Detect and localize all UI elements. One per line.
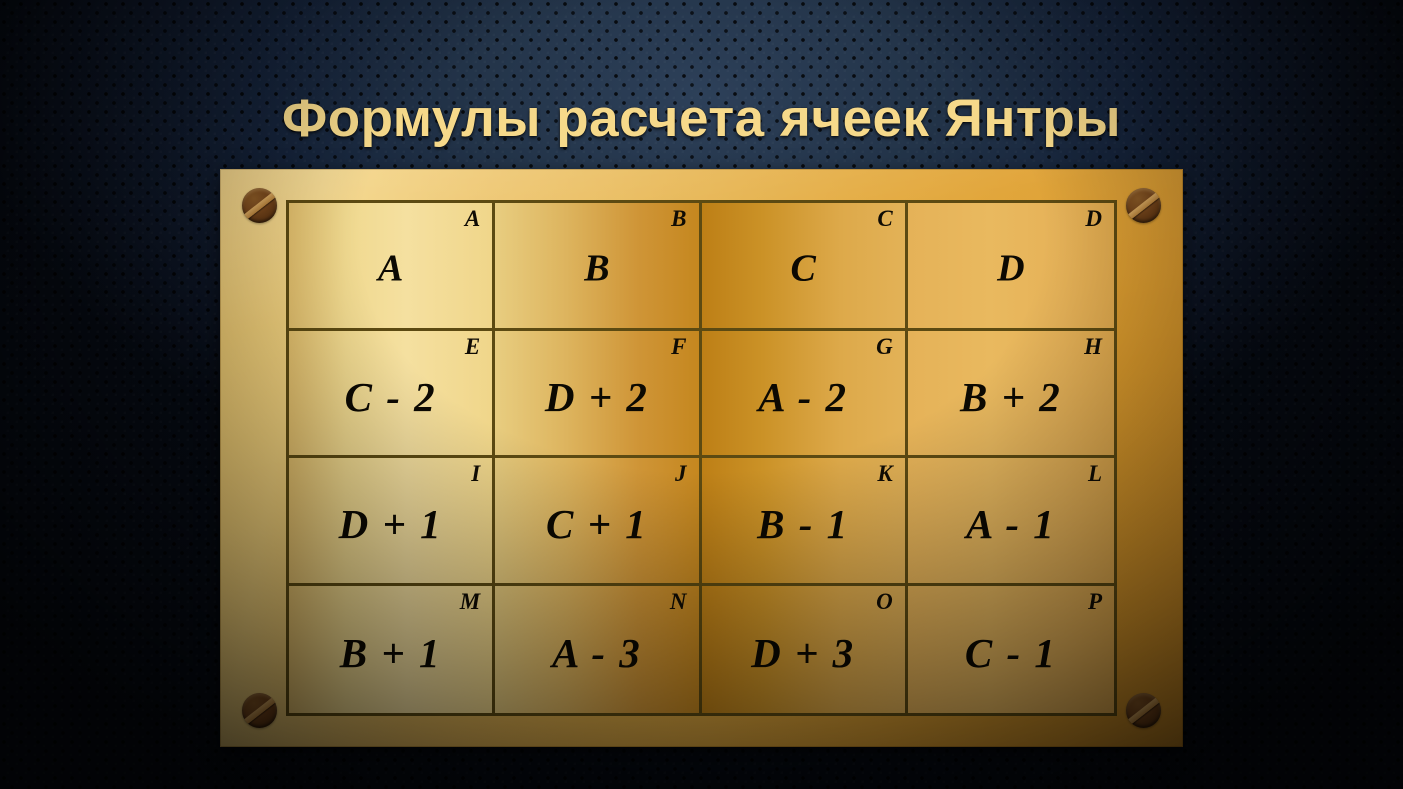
table-cell-j: JC + 1 bbox=[495, 458, 701, 586]
cell-formula: D + 2 bbox=[495, 373, 698, 421]
table-cell-e: EC - 2 bbox=[289, 331, 495, 459]
cell-formula: D + 1 bbox=[289, 500, 492, 548]
cell-formula: A - 1 bbox=[908, 500, 1114, 548]
cell-formula: A bbox=[289, 247, 492, 291]
screw-icon-bottom-left bbox=[242, 693, 277, 728]
screw-icon-top-left bbox=[242, 188, 277, 223]
table-cell-c: CC bbox=[702, 203, 908, 331]
table-cell-l: LA - 1 bbox=[908, 458, 1114, 586]
cell-label: K bbox=[877, 461, 892, 486]
cell-label: E bbox=[465, 334, 480, 359]
cell-label: P bbox=[1088, 589, 1102, 614]
table-cell-p: PC - 1 bbox=[908, 586, 1114, 714]
cell-label: N bbox=[670, 589, 687, 614]
cell-formula: B bbox=[495, 247, 698, 291]
table-cell-a: AA bbox=[289, 203, 495, 331]
slide-canvas: Формулы расчета ячеек Янтры AABBCCDDEC -… bbox=[0, 0, 1403, 789]
cell-label: H bbox=[1084, 334, 1102, 359]
cell-formula: D + 3 bbox=[702, 629, 905, 677]
cell-label: L bbox=[1088, 461, 1102, 486]
cell-label: F bbox=[671, 334, 686, 359]
cell-formula: B - 1 bbox=[702, 500, 905, 548]
table-cell-n: NA - 3 bbox=[495, 586, 701, 714]
cell-label: B bbox=[671, 206, 686, 231]
yantra-formula-table: AABBCCDDEC - 2FD + 2GA - 2HB + 2ID + 1JC… bbox=[286, 200, 1117, 716]
cell-label: A bbox=[465, 206, 480, 231]
table-cell-d: DD bbox=[908, 203, 1114, 331]
table-cell-m: MB + 1 bbox=[289, 586, 495, 714]
screw-icon-top-right bbox=[1126, 188, 1161, 223]
cell-formula: A - 2 bbox=[702, 373, 905, 421]
gold-plate-frame: AABBCCDDEC - 2FD + 2GA - 2HB + 2ID + 1JC… bbox=[220, 169, 1183, 747]
cell-formula: C bbox=[702, 247, 905, 291]
cell-label: J bbox=[675, 461, 687, 486]
table-cell-i: ID + 1 bbox=[289, 458, 495, 586]
cell-label: I bbox=[471, 461, 480, 486]
table-cell-h: HB + 2 bbox=[908, 331, 1114, 459]
screw-icon-bottom-right bbox=[1126, 693, 1161, 728]
table-cell-k: KB - 1 bbox=[702, 458, 908, 586]
table-grid: AABBCCDDEC - 2FD + 2GA - 2HB + 2ID + 1JC… bbox=[289, 203, 1114, 713]
cell-formula: C - 2 bbox=[289, 373, 492, 421]
table-cell-g: GA - 2 bbox=[702, 331, 908, 459]
cell-formula: C - 1 bbox=[908, 629, 1114, 677]
cell-formula: B + 1 bbox=[289, 629, 492, 677]
cell-label: G bbox=[876, 334, 893, 359]
cell-label: M bbox=[460, 589, 480, 614]
page-title: Формулы расчета ячеек Янтры bbox=[0, 88, 1403, 149]
cell-label: C bbox=[877, 206, 892, 231]
cell-formula: B + 2 bbox=[908, 373, 1114, 421]
cell-label: D bbox=[1085, 206, 1102, 231]
cell-formula: C + 1 bbox=[495, 500, 698, 548]
cell-formula: D bbox=[908, 247, 1114, 291]
cell-label: O bbox=[876, 589, 893, 614]
table-cell-o: OD + 3 bbox=[702, 586, 908, 714]
table-cell-b: BB bbox=[495, 203, 701, 331]
table-cell-f: FD + 2 bbox=[495, 331, 701, 459]
cell-formula: A - 3 bbox=[495, 629, 698, 677]
